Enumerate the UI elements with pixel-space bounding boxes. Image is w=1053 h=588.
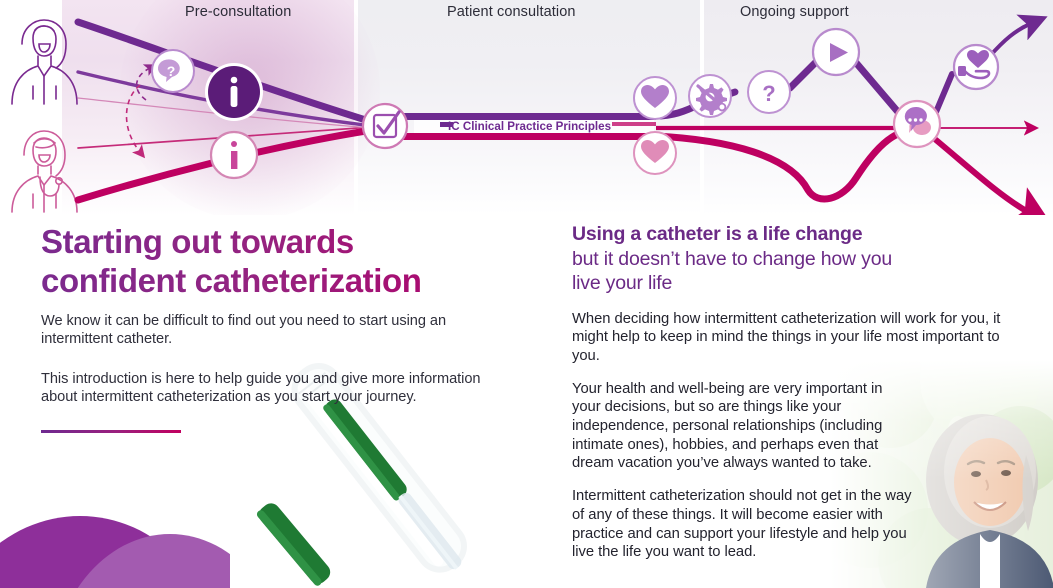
section-divider — [41, 430, 181, 433]
section-subtitle: Using a catheter is a life change but it… — [572, 222, 1002, 296]
pathway-label: IC Clinical Practice Principles — [448, 120, 611, 133]
clinician-figure — [12, 131, 77, 212]
play-button-icon — [813, 29, 859, 75]
intro-paragraph-2: This introduction is here to help guide … — [41, 371, 511, 406]
info-circle-filled-icon — [205, 63, 263, 121]
speech-bubbles-icon — [894, 101, 940, 147]
svg-text:?: ? — [762, 81, 775, 106]
subtitle-line-3: live your life — [572, 271, 1002, 296]
body-paragraph-3: Intermittent catheterization should not … — [572, 487, 912, 562]
subtitle-line-2: but it doesn’t have to change how you — [572, 247, 1002, 272]
journey-diagram: ? — [0, 0, 1053, 215]
page-title: Starting out towards confident catheteri… — [41, 222, 511, 300]
title-line-2: confident catheterization — [41, 261, 511, 300]
patient-journey-infographic: Pre-consultation Patient consultation On… — [0, 0, 1053, 215]
heart-icon-pink — [634, 132, 676, 174]
title-line-1: Starting out towards — [41, 223, 354, 260]
svg-text:?: ? — [167, 63, 176, 79]
heart-icon-purple — [634, 77, 676, 119]
brochure-page: Pre-consultation Patient consultation On… — [0, 0, 1053, 588]
question-mark-icon: ? — [748, 71, 790, 113]
hand-holding-heart-icon — [954, 45, 998, 89]
question-speech-bubble-icon: ? — [152, 50, 194, 92]
subtitle-line-1: Using a catheter is a life change — [572, 222, 1002, 247]
checklist-clipboard-icon — [362, 103, 408, 149]
decorative-blobs — [0, 516, 230, 588]
tools-gear-icon — [689, 75, 731, 117]
body-paragraph-1: When deciding how intermittent catheteri… — [572, 310, 1002, 366]
left-text-column: Starting out towards confident catheteri… — [41, 222, 511, 433]
intro-paragraph-1: We know it can be difficult to find out … — [41, 313, 511, 348]
right-text-column: Using a catheter is a life change but it… — [572, 222, 1002, 562]
patient-figure — [12, 20, 77, 104]
body-paragraph-2: Your health and well-being are very impo… — [572, 380, 912, 474]
info-circle-outline-icon — [211, 132, 257, 178]
